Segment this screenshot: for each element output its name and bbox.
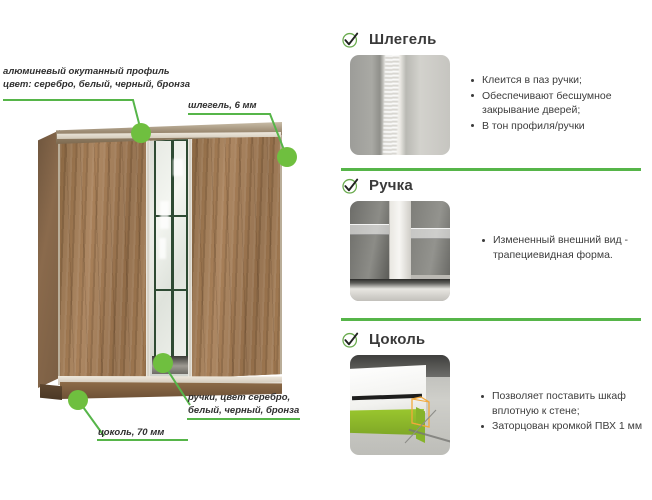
check-circle-icon <box>341 30 360 49</box>
handle-photo-profile <box>390 201 411 283</box>
green-dot-shlegel <box>277 147 297 167</box>
callout-profile-line1: алюминевый окутанный профиль <box>3 66 190 79</box>
section-divider-2 <box>341 318 641 321</box>
mirror-reflection-2 <box>159 238 166 259</box>
wardrobe-door-left <box>60 136 148 384</box>
green-dot-profile <box>131 123 151 143</box>
product-illustration-panel: алюминевый окутанный профиль цвет: сереб… <box>0 0 330 500</box>
feature-cokol-header: Цоколь <box>330 330 652 349</box>
handle-photo-left-door <box>350 201 389 279</box>
check-circle-icon <box>341 330 360 349</box>
feature-ruchka-body: Измененный внешний вид - трапециевидная … <box>330 201 652 301</box>
check-circle-icon <box>341 176 360 195</box>
list-item: В тон профиля/ручки <box>470 119 646 134</box>
callout-plinth-label: цоколь, 70 мм <box>98 427 164 440</box>
feature-cokol-title: Цоколь <box>369 331 425 348</box>
feature-cokol-bullets: Позволяет поставить шкаф вплотную к стен… <box>480 389 652 435</box>
plinth-photo <box>350 355 450 455</box>
brush-seal-strip <box>383 55 400 155</box>
wardrobe-plinth-side <box>40 384 62 400</box>
feature-ruchka-header: Ручка <box>330 176 652 195</box>
section-divider-1 <box>341 168 641 171</box>
handle-photo-floor-rail <box>350 279 450 301</box>
wardrobe-door-right <box>191 136 280 384</box>
wardrobe-body <box>58 136 282 384</box>
wardrobe-handle-right <box>188 137 192 378</box>
callout-handles-line1: ручки, цвет серебро, <box>188 392 299 405</box>
feature-shlegel-bullets: Клеится в паз ручки; Обеспечивают бесшум… <box>470 73 652 134</box>
mirror-reflection-3 <box>173 159 183 175</box>
list-item: Позволяет поставить шкаф вплотную к стен… <box>480 389 646 418</box>
mirror-horizontal-mullion-2 <box>156 289 186 292</box>
callout-handles-line2: белый, черный, бронза <box>188 405 299 418</box>
feature-shlegel: Шлегель Клеится в паз ручки; Обеспечиваю… <box>330 30 652 155</box>
list-item: Клеится в паз ручки; <box>470 73 646 88</box>
feature-cokol-body: Позволяет поставить шкаф вплотную к стен… <box>330 355 652 455</box>
features-panel: Шлегель Клеится в паз ручки; Обеспечиваю… <box>330 0 652 500</box>
mirror-frame <box>154 139 188 374</box>
handle-photo-trim-left <box>350 224 389 235</box>
list-item: Обеспечивают бесшумное закрывание дверей… <box>470 89 646 118</box>
callout-profile-label: алюминевый окутанный профиль цвет: сереб… <box>3 66 190 91</box>
feature-shlegel-title: Шлегель <box>369 31 437 48</box>
feature-ruchka: Ручка Измененный внешний вид - трапециев… <box>330 176 652 301</box>
shlegel-brush-seal-photo <box>350 55 450 155</box>
list-item: Измененный внешний вид - трапециевидная … <box>481 233 646 262</box>
callout-handles-label: ручки, цвет серебро, белый, черный, брон… <box>188 392 299 417</box>
callout-shlegel-line1: шлегель, 6 мм <box>188 100 257 113</box>
mirror-vertical-mullion <box>171 141 174 372</box>
handle-profile-photo <box>350 201 450 301</box>
plinth-photo-annotation-overlay <box>350 355 450 455</box>
feature-ruchka-bullets: Измененный внешний вид - трапециевидная … <box>481 233 652 263</box>
callout-plinth-line1: цоколь, 70 мм <box>98 427 164 440</box>
green-dot-handles <box>153 353 173 373</box>
list-item: Заторцован кромкой ПВХ 1 мм <box>480 419 646 434</box>
callout-profile-line2: цвет: серебро, белый, черный, бронза <box>3 79 190 92</box>
wardrobe-handle-left <box>146 137 150 378</box>
handle-photo-trim-right <box>411 228 450 239</box>
wardrobe-mirror-panel <box>150 136 190 384</box>
feature-cokol: Цоколь Позволяет поставить шкаф вплотную… <box>330 330 652 455</box>
feature-shlegel-header: Шлегель <box>330 30 652 49</box>
callout-shlegel-label: шлегель, 6 мм <box>188 100 257 113</box>
mirror-reflection-1 <box>160 201 169 229</box>
feature-ruchka-title: Ручка <box>369 177 413 194</box>
green-dot-plinth <box>68 390 88 410</box>
feature-shlegel-body: Клеится в паз ручки; Обеспечивают бесшум… <box>330 55 652 155</box>
wardrobe-left-side <box>38 130 60 388</box>
